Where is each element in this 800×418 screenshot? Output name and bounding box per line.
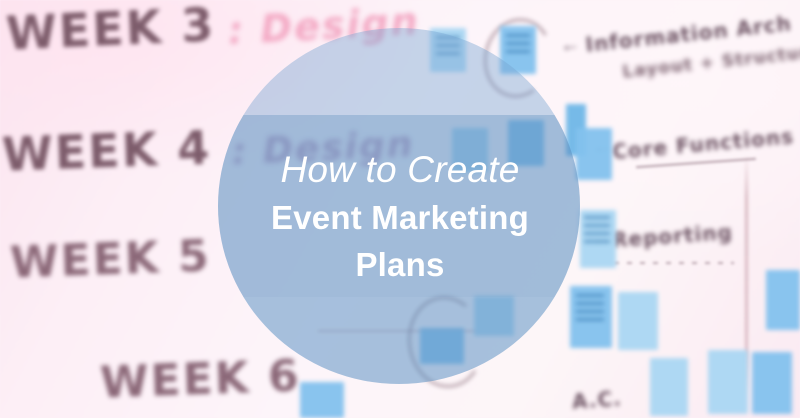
sticky-note-lines bbox=[584, 216, 610, 248]
sticky-note bbox=[708, 350, 748, 414]
sticky-note-lines bbox=[576, 294, 604, 326]
circle-overlay bbox=[218, 28, 580, 384]
circle-overlay-lower bbox=[218, 297, 580, 384]
dotted-line-1 bbox=[614, 262, 734, 264]
sticky-note bbox=[766, 270, 800, 330]
circle-overlay-band bbox=[218, 115, 580, 297]
sticky-note-lines bbox=[506, 34, 530, 58]
handwriting-week-3: WEEK 3 bbox=[5, 0, 216, 61]
banner: WEEK 3 : Design WEEK 4 : Design WEEK 5 W… bbox=[0, 0, 800, 418]
handwriting-ac: A.C. bbox=[571, 386, 622, 413]
sticky-note bbox=[650, 358, 688, 416]
handwriting-week-5: WEEK 5 bbox=[9, 231, 211, 289]
sticky-note bbox=[618, 292, 658, 350]
sticky-note bbox=[752, 352, 792, 414]
arrow-glyph-1: ← bbox=[559, 33, 581, 58]
handwriting-week-4: WEEK 4 bbox=[1, 120, 212, 181]
sticky-note bbox=[300, 382, 344, 418]
sticky-note bbox=[576, 128, 612, 180]
